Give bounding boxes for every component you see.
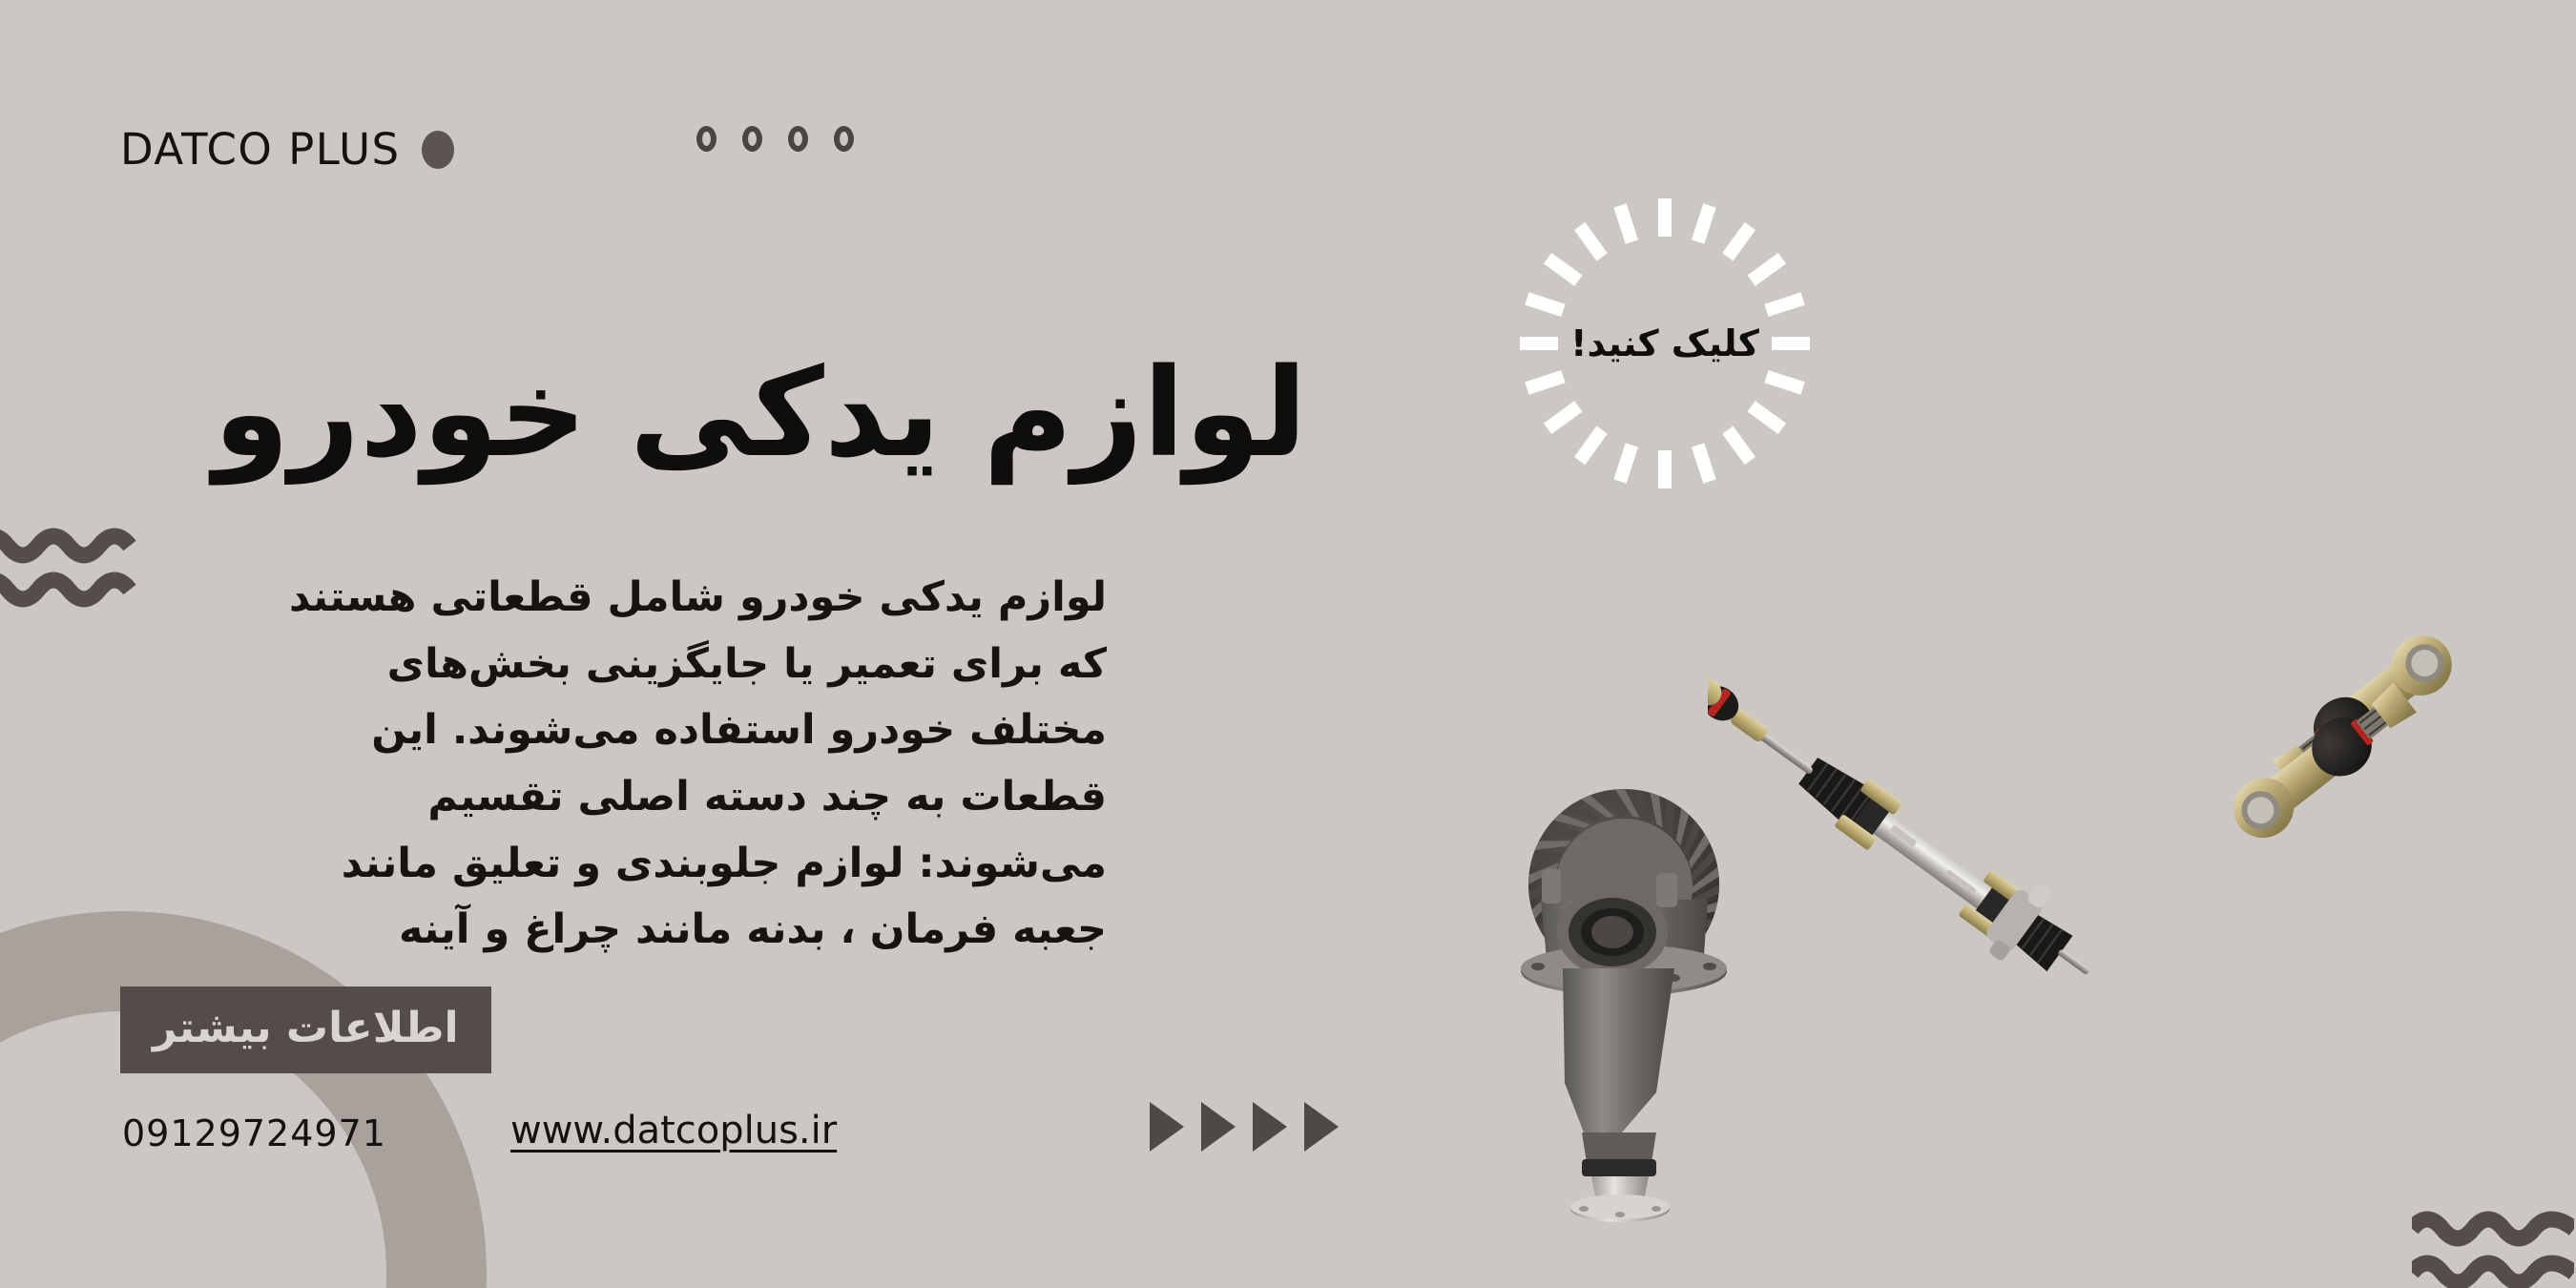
circle-outline-icon bbox=[788, 126, 808, 152]
website-link[interactable]: www.datcoplus.ir bbox=[510, 1109, 837, 1153]
dot-decoration-row bbox=[696, 126, 854, 152]
body-line: لوازم یدکی خودرو شامل قطعاتی هستند bbox=[210, 565, 1107, 632]
body-line: که برای تعمیر یا جایگزینی بخش‌های bbox=[210, 632, 1107, 698]
circle-outline-icon bbox=[742, 126, 762, 152]
play-triangle-icon bbox=[1201, 1102, 1236, 1152]
play-triangle-icon bbox=[1304, 1102, 1339, 1152]
click-here-label[interactable]: کلیک کنید! bbox=[1512, 191, 1818, 496]
banner-root: DATCO PLUS لوازم یدکی خودرو لوازم یدکی خ… bbox=[0, 0, 2576, 1288]
brand-logo[interactable]: DATCO PLUS bbox=[120, 124, 454, 175]
body-line: جعبه فرمان ، بدنه مانند چراغ و آینه bbox=[210, 897, 1107, 964]
body-paragraph: لوازم یدکی خودرو شامل قطعاتی هستند که بر… bbox=[210, 565, 1107, 964]
body-line: قطعات به چند دسته اصلی تقسیم bbox=[210, 764, 1107, 831]
circle-outline-icon bbox=[834, 126, 854, 152]
body-line: مختلف خودرو استفاده می‌شوند. این bbox=[210, 697, 1107, 764]
wave-lines-icon-left bbox=[0, 511, 149, 626]
product-image-tie-rod-ends-pair bbox=[2199, 596, 2485, 868]
brand-name: DATCO PLUS bbox=[120, 124, 401, 175]
wave-lines-icon-right bbox=[2412, 1195, 2574, 1288]
ring-decoration bbox=[0, 911, 487, 1288]
more-info-button[interactable]: اطلاعات بیشتر bbox=[120, 987, 491, 1073]
body-line: می‌شوند: لوازم جلوبندی و تعلیق مانند bbox=[210, 831, 1107, 898]
product-image-steering-rack bbox=[1708, 587, 2118, 1131]
play-triangle-icon bbox=[1253, 1102, 1287, 1152]
page-title: لوازم یدکی خودرو bbox=[143, 342, 1307, 486]
play-triangle-icon bbox=[1150, 1102, 1184, 1152]
arrow-row bbox=[1150, 1102, 1339, 1152]
click-here-badge[interactable]: کلیک کنید! bbox=[1512, 191, 1818, 496]
filled-circle-icon bbox=[422, 131, 454, 169]
phone-number: 09129724971 bbox=[122, 1112, 386, 1154]
circle-outline-icon bbox=[696, 126, 717, 152]
